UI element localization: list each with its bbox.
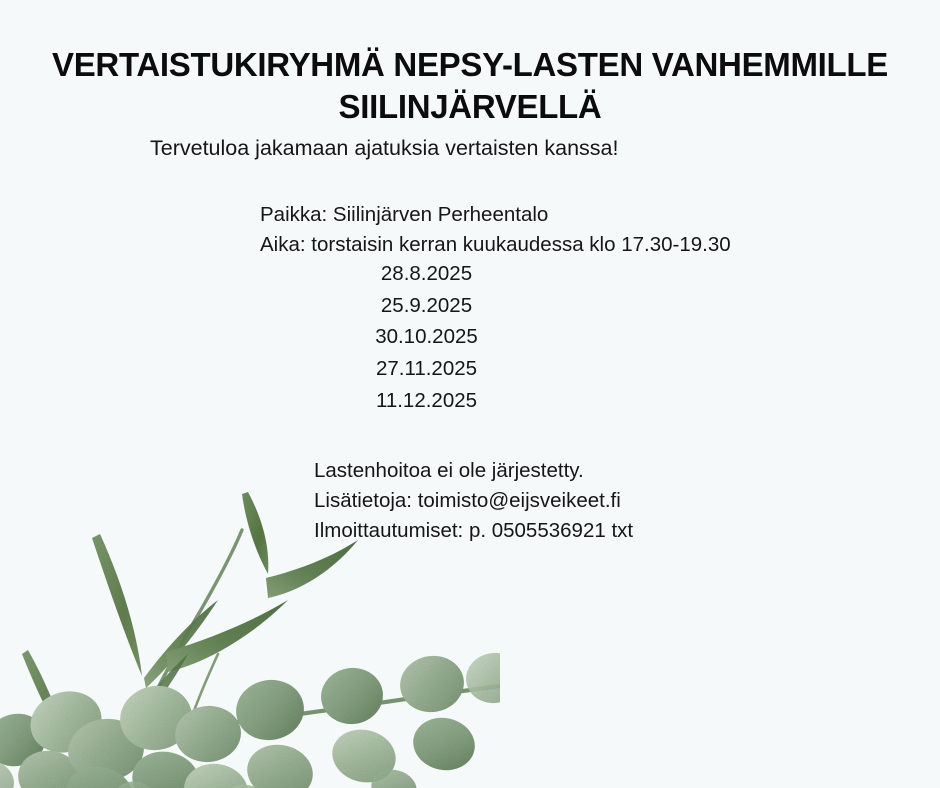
list-item: 25.9.2025: [0, 290, 853, 322]
list-item: 11.12.2025: [0, 385, 853, 417]
intro-text: Tervetuloa jakamaan ajatuksia vertaisten…: [150, 135, 618, 163]
event-details: Paikka: Siilinjärven Perheentalo Aika: t…: [260, 200, 731, 260]
note-registration: Ilmoittautumiset: p. 0505536921 txt: [314, 516, 633, 546]
meeting-dates-list: 28.8.2025 25.9.2025 30.10.2025 27.11.202…: [0, 258, 853, 416]
detail-place: Paikka: Siilinjärven Perheentalo: [260, 200, 731, 230]
note-childcare: Lastenhoitoa ei ole järjestetty.: [314, 456, 633, 486]
list-item: 30.10.2025: [0, 321, 853, 353]
additional-info: Lastenhoitoa ei ole järjestetty. Lisätie…: [314, 456, 633, 546]
note-email: Lisätietoja: toimisto@eijsveikeet.fi: [314, 486, 633, 516]
list-item: 27.11.2025: [0, 353, 853, 385]
page-title: VERTAISTUKIRYHMÄ NEPSY-LASTEN VANHEMMILL…: [0, 44, 940, 128]
list-item: 28.8.2025: [0, 258, 853, 290]
detail-time: Aika: torstaisin kerran kuukaudessa klo …: [260, 230, 731, 260]
poster-canvas: VERTAISTUKIRYHMÄ NEPSY-LASTEN VANHEMMILL…: [0, 0, 940, 788]
